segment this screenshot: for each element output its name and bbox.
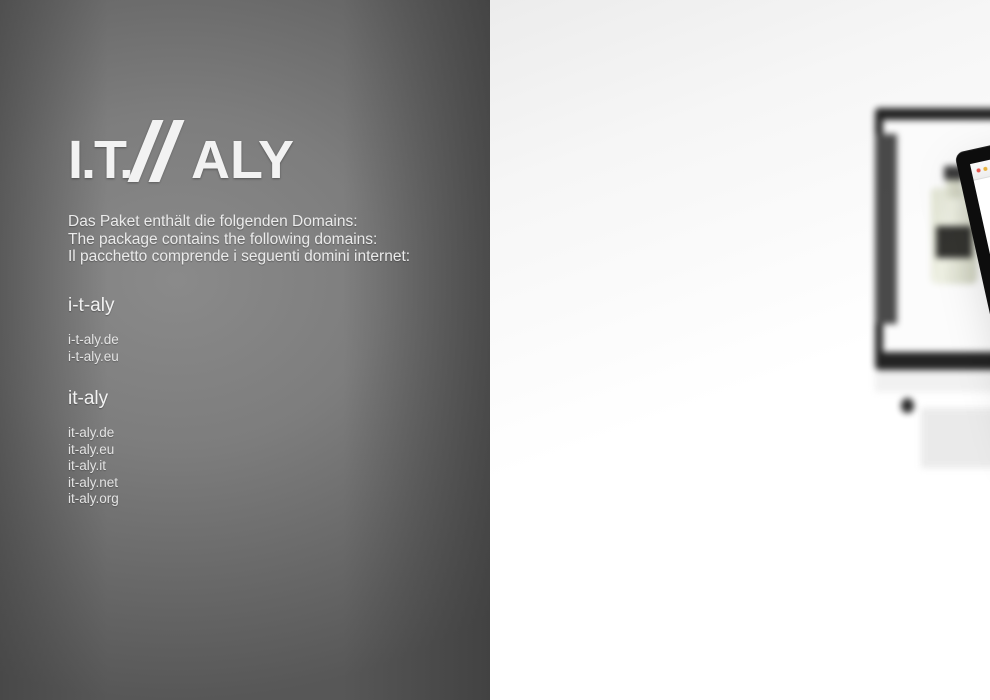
brand-logo: I.T. ALY <box>68 116 294 191</box>
close-window-icon[interactable] <box>976 168 981 173</box>
domain-group-1: i-t-aly i-t-aly.de i-t-aly.eu <box>68 294 119 365</box>
poster-stage: I.T. ALY Das Paket enthält die folgenden… <box>0 0 990 700</box>
domain-groups: i-t-aly i-t-aly.de i-t-aly.eu it-aly it-… <box>68 294 119 530</box>
logo-text-part-b: ALY <box>191 129 294 191</box>
domain-group-title: it-aly <box>68 387 119 411</box>
domain-group-title: i-t-aly <box>68 294 119 318</box>
list-item: it-aly.eu <box>68 442 119 459</box>
logo-text-part-a: I.T. <box>68 129 132 191</box>
intro-line-german: Das Paket enthält die folgenden Domains: <box>68 213 410 231</box>
intro-text-block: Das Paket enthält die folgenden Domains:… <box>68 213 410 266</box>
list-item: i-t-aly.eu <box>68 349 119 366</box>
mockup-panel: I.T.ALY Konzept Projekt Kontakt <box>490 0 990 700</box>
list-item: it-aly.it <box>68 458 119 475</box>
domain-group-2: it-aly it-aly.de it-aly.eu it-aly.it it-… <box>68 387 119 508</box>
list-item: i-t-aly.de <box>68 332 119 349</box>
domain-list-2: it-aly.de it-aly.eu it-aly.it it-aly.net… <box>68 425 119 508</box>
list-item: it-aly.net <box>68 475 119 492</box>
list-item: it-aly.org <box>68 491 119 508</box>
domain-list-1: i-t-aly.de i-t-aly.eu <box>68 332 119 365</box>
intro-line-english: The package contains the following domai… <box>68 231 410 249</box>
logo-double-slash-icon <box>134 120 190 182</box>
info-panel: I.T. ALY Das Paket enthält die folgenden… <box>0 0 490 700</box>
list-item: it-aly.de <box>68 425 119 442</box>
apple-logo-icon <box>901 398 914 413</box>
intro-line-italian: Il pacchetto comprende i seguenti domini… <box>68 248 410 266</box>
minimize-window-icon[interactable] <box>983 167 988 172</box>
